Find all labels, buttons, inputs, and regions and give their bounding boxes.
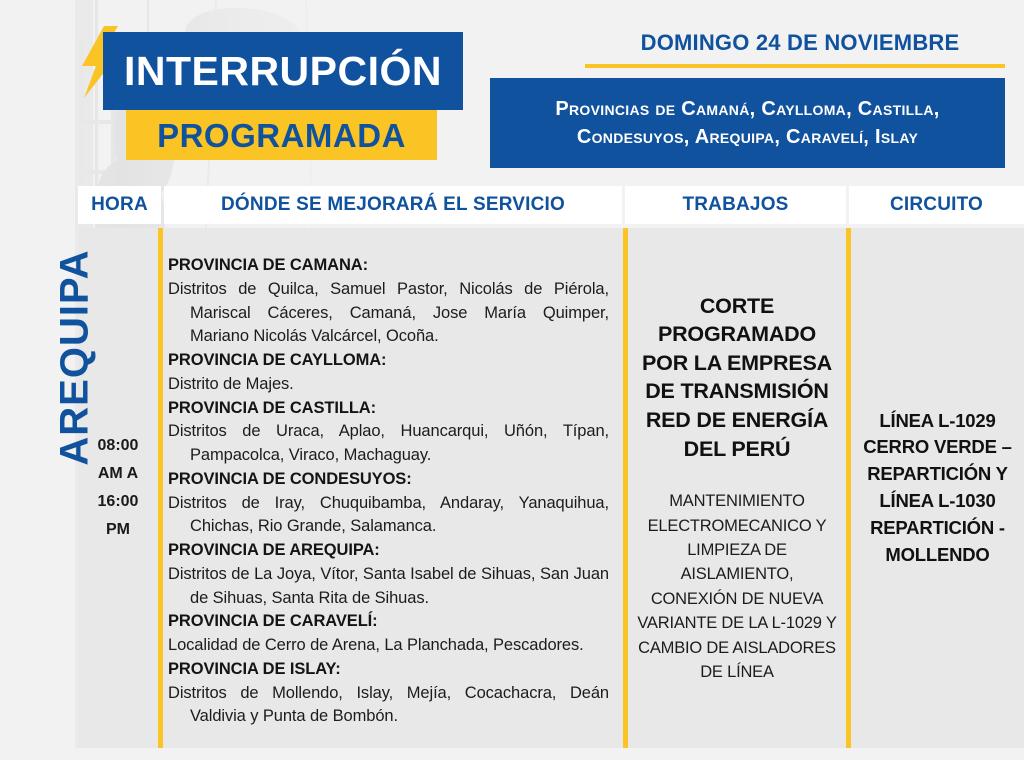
hora-line-2: AM A	[98, 460, 139, 488]
outage-table: HORA DÓNDE SE MEJORARÁ EL SERVICIO TRABA…	[78, 186, 1024, 748]
hora-line-4: PM	[98, 516, 139, 544]
province-districts: Localidad de Cerro de Arena, La Planchad…	[168, 634, 609, 658]
province-districts: Distrito de Majes.	[168, 373, 609, 397]
date-heading: DOMINGO 24 DE NOVIEMBRE	[600, 30, 1000, 56]
province-heading: PROVINCIA DE CONDESUYOS:	[168, 468, 609, 492]
province-heading: PROVINCIA DE ISLAY:	[168, 658, 609, 682]
column-header-hora-label: HORA	[91, 194, 148, 216]
column-header-trabajos-label: TRABAJOS	[682, 194, 788, 216]
cell-circuito: LÍNEA L-1029 CERRO VERDE – REPARTICIÓN Y…	[851, 228, 1024, 748]
province-districts: Distritos de Uraca, Aplao, Huancarqui, U…	[168, 420, 609, 468]
province-heading: PROVINCIA DE CARAVELÍ:	[168, 610, 609, 634]
header: INTERRUPCIÓN PROGRAMADA DOMINGO 24 DE NO…	[0, 0, 1024, 186]
province-heading: PROVINCIA DE CAYLLOMA:	[168, 349, 609, 373]
provinces-line-1: Provincias de Camaná, Caylloma, Castilla…	[555, 95, 939, 123]
trabajos-main-text: CORTE PROGRAMADO POR LA EMPRESA DE TRANS…	[636, 292, 838, 464]
bottom-strip	[0, 748, 1024, 760]
region-label-vertical: AREQUIPA	[53, 228, 98, 488]
date-underline-rule	[585, 64, 1005, 68]
table-row: 08:00 AM A 16:00 PM PROVINCIA DE CAMANA:…	[78, 228, 1024, 748]
column-header-donde-label: DÓNDE SE MEJORARÁ EL SERVICIO	[221, 194, 565, 216]
hora-line-3: 16:00	[98, 488, 139, 516]
column-header-hora: HORA	[78, 186, 161, 224]
province-heading: PROVINCIA DE AREQUIPA:	[168, 539, 609, 563]
title-banner-primary: INTERRUPCIÓN	[103, 32, 463, 110]
column-header-circuito-label: CIRCUITO	[890, 194, 983, 216]
province-districts: Distritos de Mollendo, Islay, Mejía, Coc…	[168, 682, 609, 730]
cell-donde: PROVINCIA DE CAMANA:Distritos de Quilca,…	[163, 228, 621, 748]
province-heading: PROVINCIA DE CASTILLA:	[168, 397, 609, 421]
trabajos-detail-text: MANTENIMIENTO ELECTROMECANICO Y LIMPIEZA…	[636, 489, 838, 684]
table-header-row: HORA DÓNDE SE MEJORARÁ EL SERVICIO TRABA…	[78, 186, 1024, 224]
column-header-circuito: CIRCUITO	[849, 186, 1024, 224]
circuito-text: LÍNEA L-1029 CERRO VERDE – REPARTICIÓN Y…	[857, 408, 1018, 569]
title-line-2: PROGRAMADA	[157, 119, 406, 152]
column-header-trabajos: TRABAJOS	[625, 186, 846, 224]
province-districts: Distritos de La Joya, Vítor, Santa Isabe…	[168, 563, 609, 611]
provinces-line-2: Condesuyos, Arequipa, Caravelí, Islay	[577, 123, 918, 151]
province-heading: PROVINCIA DE CAMANA:	[168, 254, 609, 278]
hora-line-1: 08:00	[98, 432, 139, 460]
title-banner-secondary: PROGRAMADA	[126, 110, 437, 160]
province-districts: Distritos de Iray, Chuquibamba, Andaray,…	[168, 492, 609, 540]
cell-trabajos: CORTE PROGRAMADO POR LA EMPRESA DE TRANS…	[628, 228, 846, 748]
column-header-donde: DÓNDE SE MEJORARÁ EL SERVICIO	[164, 186, 622, 224]
date-text: DOMINGO 24 DE NOVIEMBRE	[641, 30, 960, 55]
provinces-banner: Provincias de Camaná, Caylloma, Castilla…	[490, 78, 1005, 168]
title-line-1: INTERRUPCIÓN	[124, 51, 442, 92]
region-label-text: AREQUIPA	[53, 249, 97, 465]
province-districts: Distritos de Quilca, Samuel Pastor, Nico…	[168, 278, 609, 349]
